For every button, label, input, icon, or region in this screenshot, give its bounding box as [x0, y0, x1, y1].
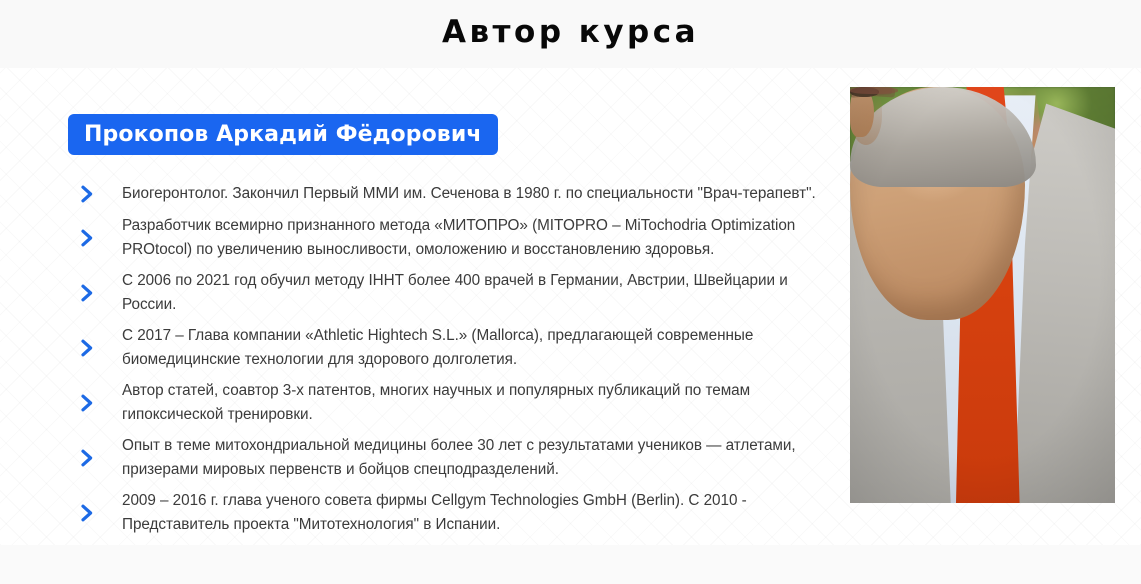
list-item: С 2017 – Глава компании «Athletic Highte… [68, 324, 836, 372]
list-item-text: Опыт в теме митохондриальной медицины бо… [122, 434, 836, 482]
chevron-right-icon [76, 447, 98, 469]
chevron-right-icon [76, 282, 98, 304]
list-item-text: С 2006 по 2021 год обучил методу IHHT бо… [122, 269, 836, 317]
page-title: Автор курса [442, 17, 699, 52]
author-section: Автор курса Прокопов Аркадий Фёдорович Б… [0, 0, 1141, 584]
list-item: Биогеронтолог. Закончил Первый ММИ им. С… [68, 181, 836, 207]
list-item-text: Автор статей, соавтор 3-х патентов, мног… [122, 379, 836, 427]
list-item-text: Биогеронтолог. Закончил Первый ММИ им. С… [122, 182, 816, 206]
author-photo [850, 87, 1115, 503]
author-name: Прокопов Аркадий Фёдорович [84, 124, 482, 146]
chevron-right-icon [76, 502, 98, 524]
photo-vignette [850, 87, 1115, 503]
chevron-right-icon [76, 183, 98, 205]
chevron-right-icon [76, 337, 98, 359]
list-item-text: С 2017 – Глава компании «Athletic Highte… [122, 324, 836, 372]
footer-band [0, 545, 1141, 584]
list-item: Разработчик всемирно признанного метода … [68, 214, 836, 262]
chevron-right-icon [76, 227, 98, 249]
list-item: 2009 – 2016 г. глава ученого совета фирм… [68, 489, 836, 537]
list-item: С 2006 по 2021 год обучил методу IHHT бо… [68, 269, 836, 317]
list-item-text: 2009 – 2016 г. глава ученого совета фирм… [122, 489, 836, 537]
section-header: Автор курса [0, 0, 1141, 68]
list-item: Автор статей, соавтор 3-х патентов, мног… [68, 379, 836, 427]
chevron-right-icon [76, 392, 98, 414]
list-item-text: Разработчик всемирно признанного метода … [122, 214, 836, 262]
list-item: Опыт в теме митохондриальной медицины бо… [68, 434, 836, 482]
author-name-banner: Прокопов Аркадий Фёдорович [68, 114, 498, 155]
author-bio-list: Биогеронтолог. Закончил Первый ММИ им. С… [68, 181, 836, 537]
